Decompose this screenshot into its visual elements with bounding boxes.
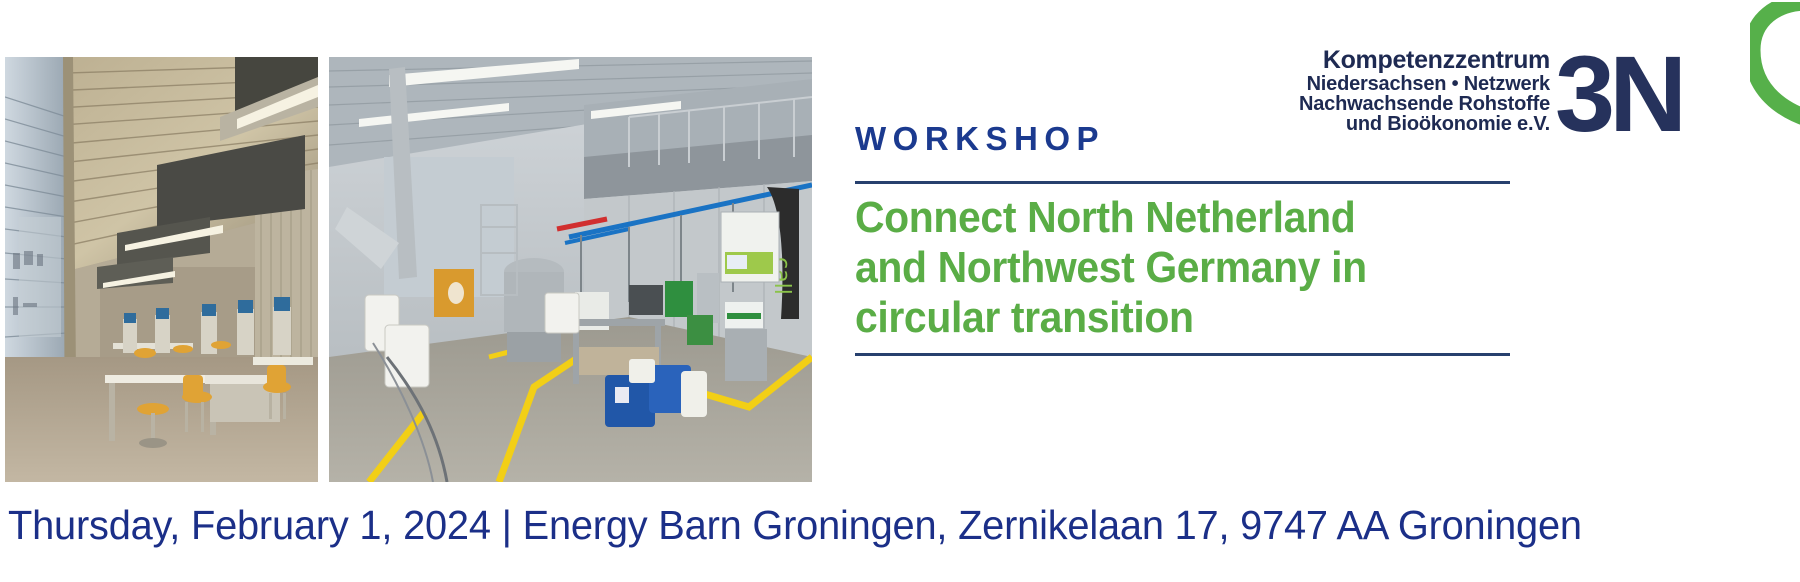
logo-line-3: Nachwachsende Rohstoffe xyxy=(1299,94,1550,114)
logo-3n-mark: 3N xyxy=(1555,40,1681,148)
divider-bottom xyxy=(855,353,1510,356)
photo-lab-workbenches xyxy=(5,57,318,482)
photo-lab-workbenches-graphic xyxy=(5,57,318,482)
photo-pilot-plant-graphic: call xyxy=(329,57,812,482)
date-venue-line: Thursday, February 1, 2024 | Energy Barn… xyxy=(8,505,1738,546)
logo-line-2: Niedersachsen • Netzwerk xyxy=(1299,74,1550,94)
logo-line-1: Kompetenzzentrum xyxy=(1299,48,1550,74)
page-title: Connect North Netherland and Northwest G… xyxy=(855,193,1469,343)
leaf-icon xyxy=(1750,2,1800,127)
workshop-header-block: WORKSHOP Connect North Netherland and No… xyxy=(855,120,1515,356)
photo-pilot-plant: call xyxy=(329,57,812,482)
kicker-label: WORKSHOP xyxy=(855,120,1515,158)
divider-top xyxy=(855,181,1510,184)
